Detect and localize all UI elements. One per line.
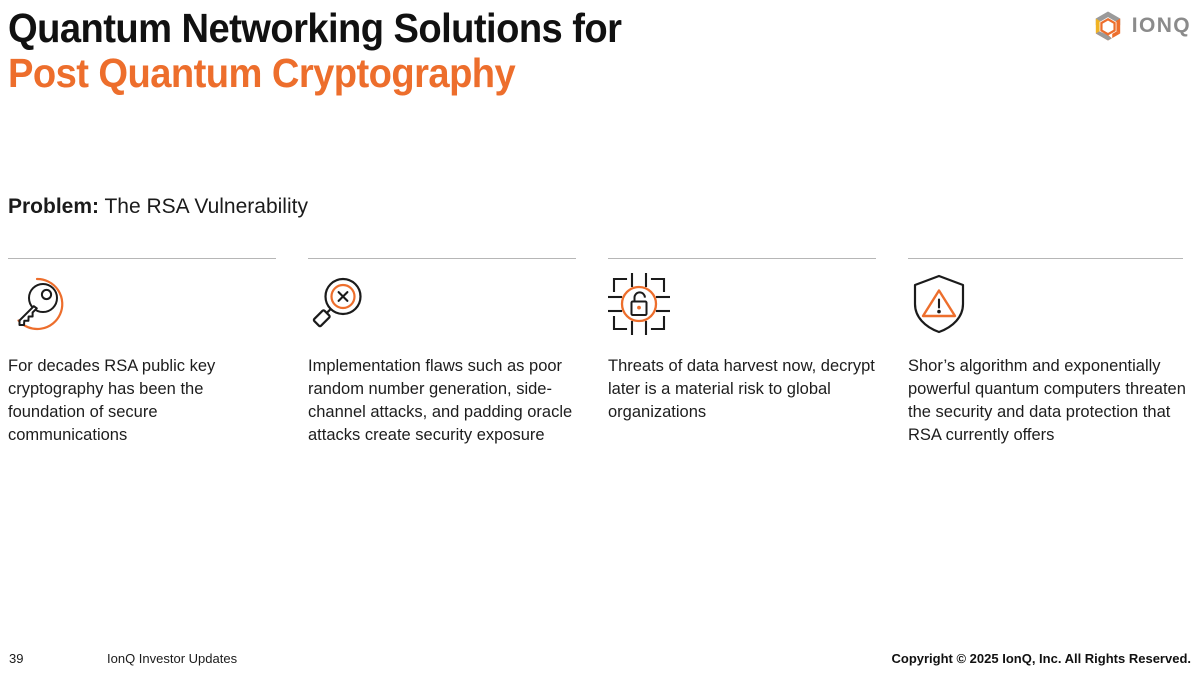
content-column-3: Threats of data harvest now, decrypt lat… [608,258,878,447]
ionq-hexagon-icon [1093,10,1123,42]
column-icon-2 [308,259,578,335]
page-title-line-1: Quantum Networking Solutions for [8,6,771,51]
content-columns: For decades RSA public key cryptography … [8,258,1191,447]
section-heading-label: Problem: [8,195,99,218]
column-body-2: Implementation flaws such as poor random… [308,335,578,447]
column-body-1: For decades RSA public key cryptography … [8,335,278,447]
content-column-1: For decades RSA public key cryptography … [8,258,278,447]
column-body-3: Threats of data harvest now, decrypt lat… [608,335,878,424]
footer-deck-name: IonQ Investor Updates [107,651,237,666]
column-body-4: Shor’s algorithm and exponentially power… [908,335,1191,447]
shield-with-warning-icon [908,273,1191,335]
section-heading-text: The RSA Vulnerability [99,195,308,218]
key-in-ring-icon [8,273,278,335]
column-icon-1 [8,259,278,335]
footer-page-number: 39 [9,651,23,666]
column-icon-3 [608,259,878,335]
ionq-logo: IONQ [1093,10,1191,42]
content-column-2: Implementation flaws such as poor random… [308,258,578,447]
content-column-4: Shor’s algorithm and exponentially power… [908,258,1191,447]
section-heading: Problem: The RSA Vulnerability [8,193,308,221]
footer-copyright: Copyright © 2025 IonQ, Inc. All Rights R… [892,651,1192,666]
page-title-line-2: Post Quantum Cryptography [8,51,771,96]
chip-with-open-padlock-icon [608,273,878,335]
page-title: Quantum Networking Solutions for Post Qu… [8,6,828,96]
ionq-wordmark: IONQ [1132,14,1191,38]
column-icon-4 [908,259,1191,335]
magnifier-with-x-icon [308,273,578,335]
